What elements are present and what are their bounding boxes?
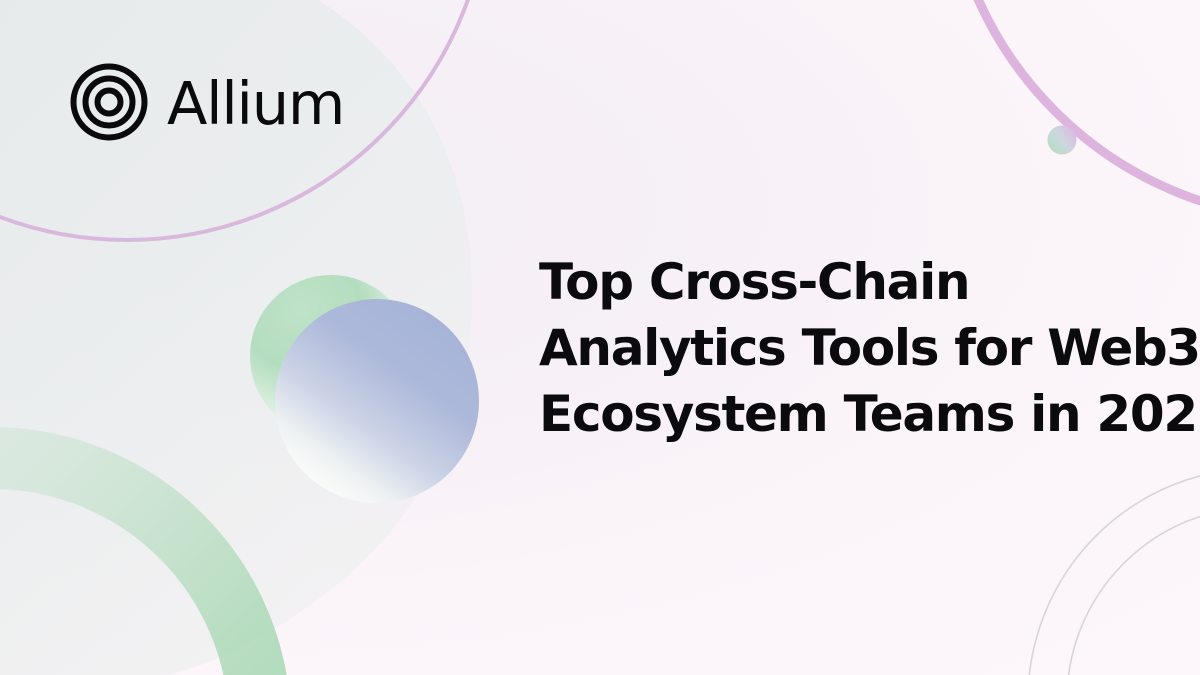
gradient-node-dot: [1048, 126, 1077, 155]
lilac-arc-top-right: [946, 0, 1200, 220]
hairline-circle-outer: [1028, 468, 1200, 675]
headline-line-3: Ecosystem Teams in 2025: [539, 381, 1139, 447]
hairline-circle-inner: [1067, 507, 1200, 675]
cover-canvas: Allium Top Cross-Chain Analytics Tools f…: [0, 0, 1200, 675]
brand-logo[interactable]: Allium: [69, 62, 344, 142]
page-title: Top Cross-Chain Analytics Tools for Web3…: [539, 249, 1139, 447]
brand-wordmark: Allium: [167, 74, 344, 133]
concentric-rings-bullseye-icon: [69, 62, 149, 142]
headline-line-1: Top Cross-Chain: [539, 249, 1139, 315]
blue-sphere: [275, 299, 479, 503]
headline-line-2: Analytics Tools for Web3: [539, 315, 1139, 381]
